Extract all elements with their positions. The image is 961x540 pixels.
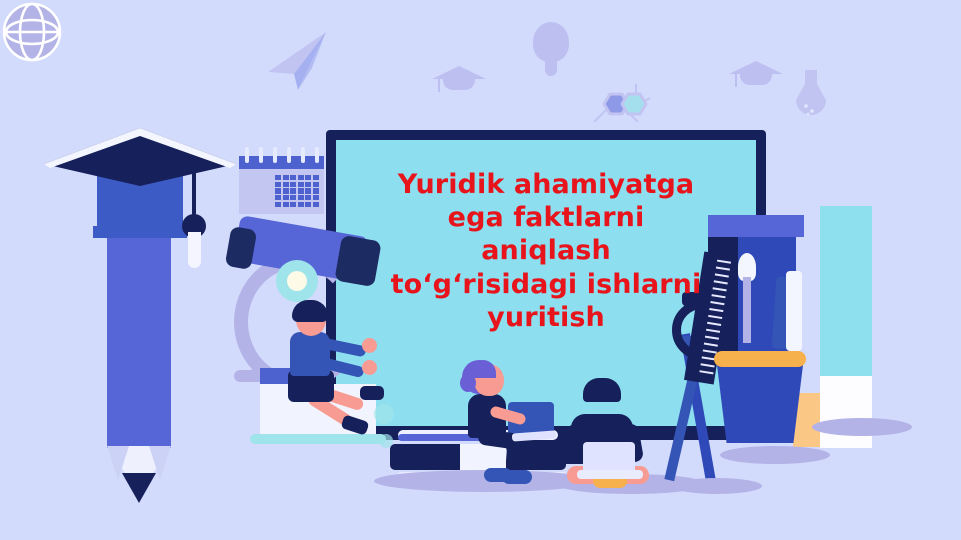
flask-icon [790,68,832,124]
student-with-laptop-on-books [458,358,558,488]
decorative-bubble [379,434,393,448]
graduation-cap-icon [729,55,783,89]
floor-shadow [720,446,830,464]
globe-icon [0,0,64,64]
slide-title: Yuridik ahamiyatga ega faktlarni aniqlas… [330,168,762,334]
light-bulb-icon [533,22,569,78]
floor-shadow [812,418,912,436]
cap-board-icon [40,128,240,182]
calendar-icon [239,144,324,214]
slide-canvas: Yuridik ahamiyatga ega faktlarni aniqlas… [0,0,961,540]
floor-shadow [672,478,762,494]
paper-plane-icon [268,32,330,90]
molecule-icon [590,78,654,130]
decorative-bubble [374,404,394,424]
pencil-with-graduation-cap [40,118,240,468]
graduation-cap-icon [432,60,486,94]
